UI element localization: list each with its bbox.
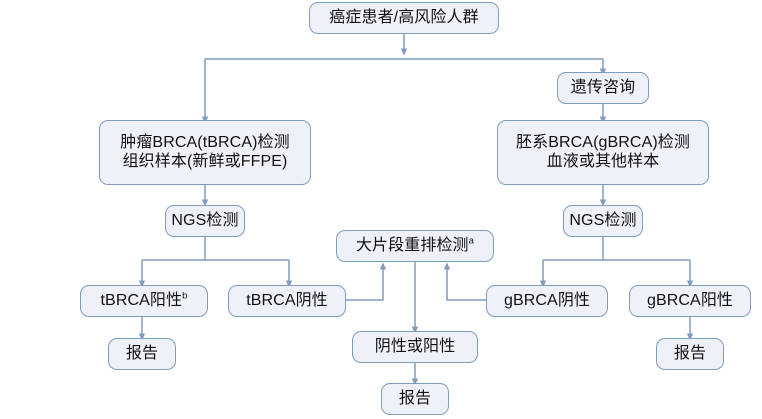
node-ngs-left[interactable]: NGS检测 (165, 205, 245, 237)
node-tumor-brca[interactable]: 肿瘤BRCA(tBRCA)检测 组织样本(新鲜或FFPE) (99, 120, 311, 185)
node-negative-or-positive[interactable]: 阴性或阳性 (352, 331, 478, 363)
connector-tbrca-negative-to-lgr (345, 266, 383, 300)
node-genetic-counseling[interactable]: 遗传咨询 (557, 72, 649, 104)
node-report-right[interactable]: 报告 (656, 338, 724, 370)
node-large-rearrangement-label: 大片段重排检测a (356, 237, 474, 256)
node-tbrca-positive-label: tBRCA阳性b (101, 292, 188, 311)
node-germline-brca-line1: 胚系BRCA(gBRCA)检测 (516, 134, 690, 153)
node-root[interactable]: 癌症患者/高风险人群 (309, 2, 499, 34)
flowchart-diagram: 癌症患者/高风险人群 遗传咨询 肿瘤BRCA(tBRCA)检测 组织样本(新鲜或… (0, 0, 762, 419)
node-tbrca-negative-label: tBRCA阴性 (246, 292, 328, 311)
node-negative-or-positive-label: 阴性或阳性 (375, 338, 456, 357)
node-tbrca-negative[interactable]: tBRCA阴性 (228, 285, 346, 317)
node-germline-brca-line2: 血液或其他样本 (547, 153, 660, 172)
node-report-left-label: 报告 (126, 345, 158, 364)
node-genetic-counseling-label: 遗传咨询 (571, 79, 635, 98)
node-report-left[interactable]: 报告 (108, 338, 176, 370)
node-report-middle[interactable]: 报告 (381, 383, 449, 415)
node-root-label: 癌症患者/高风险人群 (329, 9, 478, 28)
footnote-marker-a: a (469, 235, 474, 246)
node-germline-brca[interactable]: 胚系BRCA(gBRCA)检测 血液或其他样本 (497, 120, 709, 185)
node-gbrca-negative-label: gBRCA阴性 (504, 292, 590, 311)
node-ngs-right[interactable]: NGS检测 (563, 205, 643, 237)
node-tumor-brca-line2: 组织样本(新鲜或FFPE) (123, 153, 288, 172)
node-ngs-right-label: NGS检测 (569, 212, 636, 231)
node-gbrca-positive-label: gBRCA阳性 (647, 292, 733, 311)
node-tbrca-positive[interactable]: tBRCA阳性b (80, 285, 208, 317)
connector-gbrca-negative-to-lgr (447, 266, 487, 300)
node-ngs-left-label: NGS检测 (171, 212, 238, 231)
node-gbrca-positive[interactable]: gBRCA阳性 (629, 285, 751, 317)
node-tumor-brca-line1: 肿瘤BRCA(tBRCA)检测 (120, 134, 290, 153)
footnote-marker-b: b (182, 290, 187, 301)
node-report-middle-label: 报告 (399, 390, 431, 409)
node-report-right-label: 报告 (674, 345, 706, 364)
node-large-rearrangement[interactable]: 大片段重排检测a (336, 230, 494, 262)
node-gbrca-negative[interactable]: gBRCA阴性 (486, 285, 608, 317)
